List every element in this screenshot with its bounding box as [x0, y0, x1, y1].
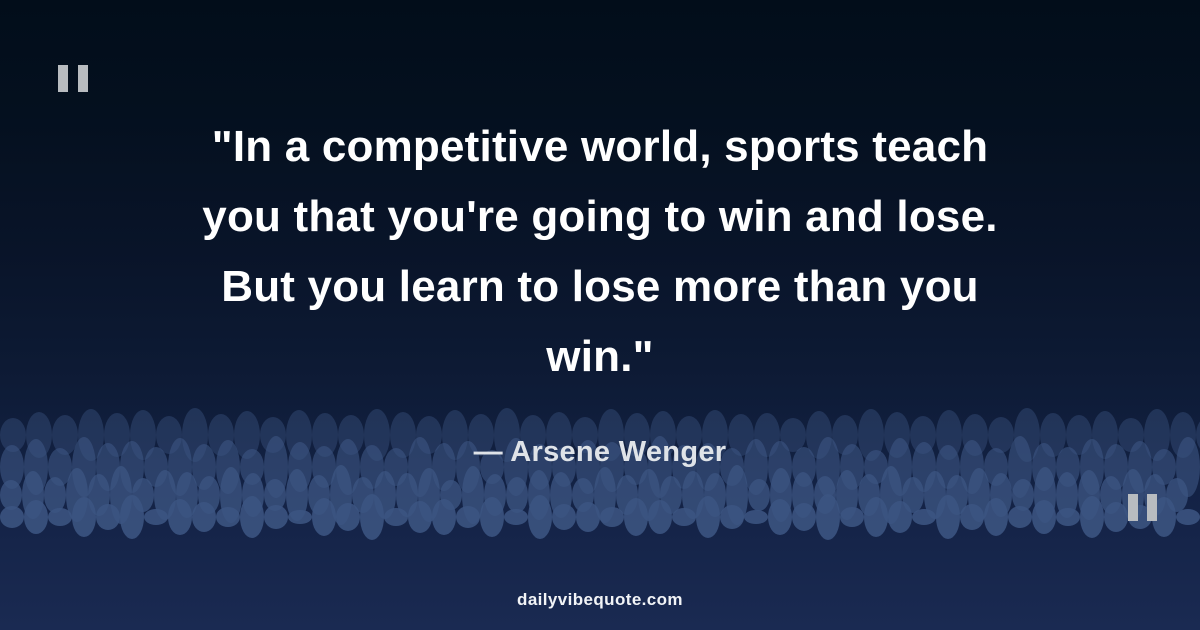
quote-bar — [58, 65, 68, 92]
quote-body: "In a competitive world, sports teach yo… — [0, 112, 1200, 392]
quote-line: you that you're going to win and lose. — [70, 182, 1130, 252]
closing-quote-mark — [1128, 494, 1157, 521]
waveform-decoration — [0, 395, 1200, 545]
quote-card: "In a competitive world, sports teach yo… — [0, 0, 1200, 630]
quote-bar — [1147, 494, 1157, 521]
quote-attribution: — Arsene Wenger — [0, 436, 1200, 469]
quote-line: But you learn to lose more than you — [70, 252, 1130, 322]
quote-line: win." — [70, 322, 1130, 392]
quote-bar — [1128, 494, 1138, 521]
quote-line: "In a competitive world, sports teach — [70, 112, 1130, 182]
opening-quote-mark — [58, 65, 88, 92]
quote-bar — [78, 65, 88, 92]
site-watermark: dailyvibequote.com — [0, 590, 1200, 610]
